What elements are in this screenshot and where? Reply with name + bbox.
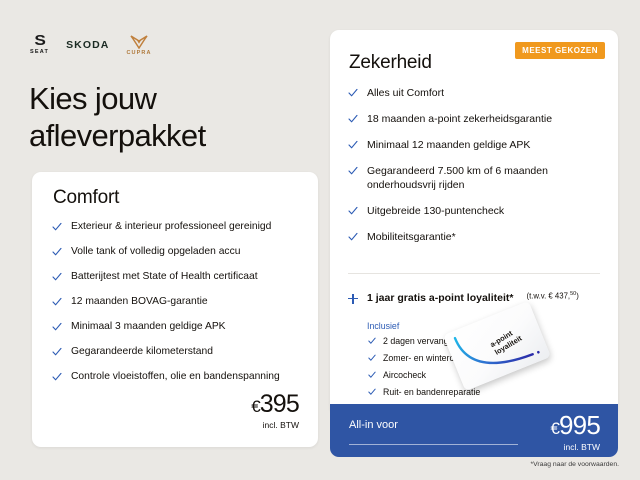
comfort-price: €395 [251, 391, 299, 420]
list-item: Volle tank of volledig opgeladen accu [52, 245, 302, 259]
currency-symbol: € [251, 397, 259, 416]
list-item-label: Volle tank of volledig opgeladen accu [71, 245, 240, 259]
list-item: Minimaal 3 maanden geldige APK [52, 320, 302, 334]
allin-rule-divider [349, 444, 518, 445]
cupra-wordmark: CUPRA [126, 50, 151, 56]
check-icon [348, 206, 358, 216]
brand-logo-bar: S SEAT SKODA CUPRA [30, 33, 152, 57]
price-amount: 395 [260, 390, 299, 418]
list-item: 18 maanden a-point zekerheidsgarantie [348, 112, 604, 126]
promo-graphic: S SEAT SKODA CUPRA Kies jouwafleverpakke… [0, 0, 640, 480]
check-icon [368, 388, 376, 396]
list-item-label: Minimaal 12 maanden geldige APK [367, 138, 530, 152]
allin-price: €995 [551, 412, 600, 442]
list-item-label: Gegarandeerd 7.500 km of 6 maanden onder… [367, 164, 604, 192]
page-title: Kies jouwafleverpakket [29, 80, 309, 154]
list-item-label: Controle vloeistoffen, olie en bandenspa… [71, 370, 280, 384]
check-icon [348, 88, 358, 98]
check-icon [52, 322, 62, 332]
check-icon [52, 297, 62, 307]
check-icon [52, 247, 62, 257]
list-item-label: Minimaal 3 maanden geldige APK [71, 320, 226, 334]
list-item: Mobiliteitsgarantie* [348, 230, 604, 244]
list-item: Gegarandeerd 7.500 km of 6 maanden onder… [348, 164, 604, 192]
check-icon [368, 371, 376, 379]
footnote: *Vraag naar de voorwaarden. [530, 461, 619, 468]
section-divider [348, 273, 600, 274]
list-item: Batterijtest met State of Health certifi… [52, 270, 302, 284]
seat-mark-icon: S [34, 35, 44, 47]
package-card-comfort[interactable]: Comfort Exterieur & interieur profession… [32, 172, 318, 447]
included-label: Inclusief [367, 321, 399, 331]
page-title-line1: Kies jouw [29, 81, 156, 116]
list-item-label: 18 maanden a-point zekerheidsgarantie [367, 112, 552, 126]
currency-symbol: € [551, 419, 559, 438]
check-icon [348, 232, 358, 242]
page-title-line2: afleverpakket [29, 118, 206, 153]
loyalty-value-suffix: ) [576, 292, 579, 301]
check-icon [52, 372, 62, 382]
list-item: Controle vloeistoffen, olie en bandenspa… [52, 370, 302, 384]
list-item: 12 maanden BOVAG-garantie [52, 295, 302, 309]
allin-price-bar: All-in voor €995 incl. BTW [330, 404, 618, 457]
list-item-label: 12 maanden BOVAG-garantie [71, 295, 208, 309]
cupra-logo: CUPRA [126, 35, 151, 56]
check-icon [368, 354, 376, 362]
skoda-wordmark: SKODA [66, 39, 109, 51]
loyalty-value-prefix: (t.w.v. € 437, [526, 292, 570, 301]
cupra-tribal-icon [130, 35, 148, 49]
list-item: Ruit- en bandenreparatie [368, 386, 538, 398]
list-item-label: Exterieur & interieur professioneel gere… [71, 220, 271, 234]
check-icon [348, 140, 358, 150]
allin-price-note: incl. BTW [551, 442, 600, 453]
loyalty-headline-row: 1 jaar gratis a-point loyaliteit* (t.w.v… [348, 291, 608, 305]
list-item-label: Uitgebreide 130-puntencheck [367, 204, 504, 218]
comfort-price-block: €395 incl. BTW [251, 391, 299, 431]
skoda-logo: SKODA [66, 39, 109, 51]
zekerheid-feature-list: Alles uit Comfort 18 maanden a-point zek… [348, 86, 604, 256]
loyalty-title: 1 jaar gratis a-point loyaliteit* [367, 291, 513, 305]
check-icon [368, 337, 376, 345]
status-badge: MEEST GEKOZEN [515, 42, 605, 59]
price-amount: 995 [559, 410, 600, 440]
comfort-price-note: incl. BTW [251, 420, 299, 431]
check-icon [52, 272, 62, 282]
list-item-label: Gegarandeerde kilometerstand [71, 345, 213, 359]
list-item: Exterieur & interieur professioneel gere… [52, 220, 302, 234]
allin-label: All-in voor [349, 419, 398, 431]
list-item-label: Mobiliteitsgarantie* [367, 230, 456, 244]
loyalty-value: (t.w.v. € 437,50) [526, 291, 578, 301]
check-icon [52, 222, 62, 232]
seat-logo: S SEAT [30, 35, 49, 55]
list-item-label: Alles uit Comfort [367, 86, 444, 100]
seat-wordmark: SEAT [30, 49, 49, 55]
check-icon [52, 347, 62, 357]
list-item-label: Aircocheck [383, 369, 426, 381]
check-icon [348, 166, 358, 176]
plus-icon [348, 293, 358, 304]
allin-price-block: €995 incl. BTW [551, 412, 600, 453]
comfort-card-title: Comfort [53, 187, 119, 209]
list-item: Minimaal 12 maanden geldige APK [348, 138, 604, 152]
list-item-label: Batterijtest met State of Health certifi… [71, 270, 258, 284]
list-item: Gegarandeerde kilometerstand [52, 345, 302, 359]
list-item: Alles uit Comfort [348, 86, 604, 100]
zekerheid-card-title: Zekerheid [349, 52, 432, 74]
check-icon [348, 114, 358, 124]
comfort-feature-list: Exterieur & interieur professioneel gere… [52, 220, 302, 395]
list-item: Uitgebreide 130-puntencheck [348, 204, 604, 218]
